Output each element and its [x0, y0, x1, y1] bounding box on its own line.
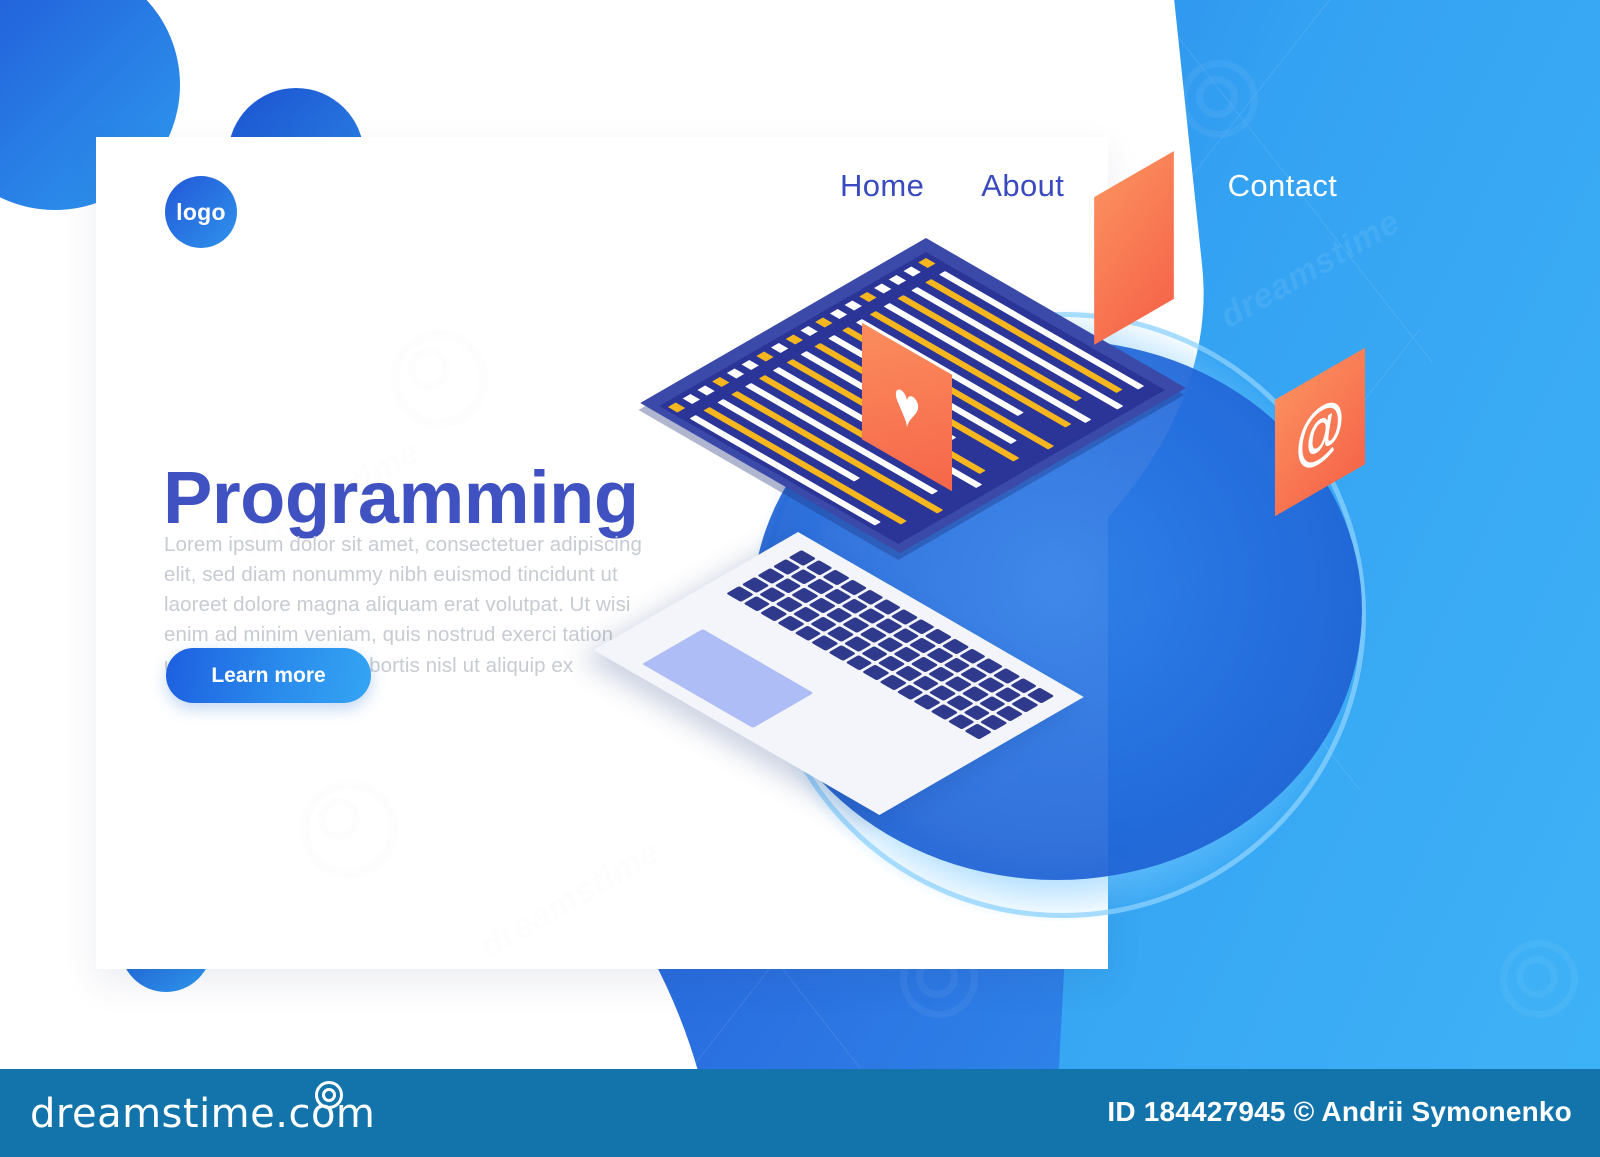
at-glyph: @ [1296, 385, 1345, 478]
stock-footer-bar: dreamstime.com ID 184427945 © Andrii Sym… [0, 1069, 1600, 1157]
logo-badge[interactable]: logo [165, 176, 237, 248]
at-icon: @ [1275, 348, 1365, 516]
isometric-illustration: ♥ @ [690, 190, 1450, 910]
image-credit: ID 184427945 © Andrii Symonenko [1107, 1096, 1572, 1128]
logo-label: logo [176, 199, 226, 226]
laptop-group: ♥ @ [690, 190, 1450, 910]
bubble-at: @ [1275, 348, 1365, 516]
page-title: Programming [163, 461, 639, 535]
dreamstime-spiral-icon [315, 1081, 343, 1109]
illustration-canvas: dreamstime dreamstime dreamstime dreamst… [0, 0, 1600, 1157]
learn-more-button[interactable]: Learn more [166, 648, 371, 703]
heart-glyph: ♥ [894, 370, 921, 444]
